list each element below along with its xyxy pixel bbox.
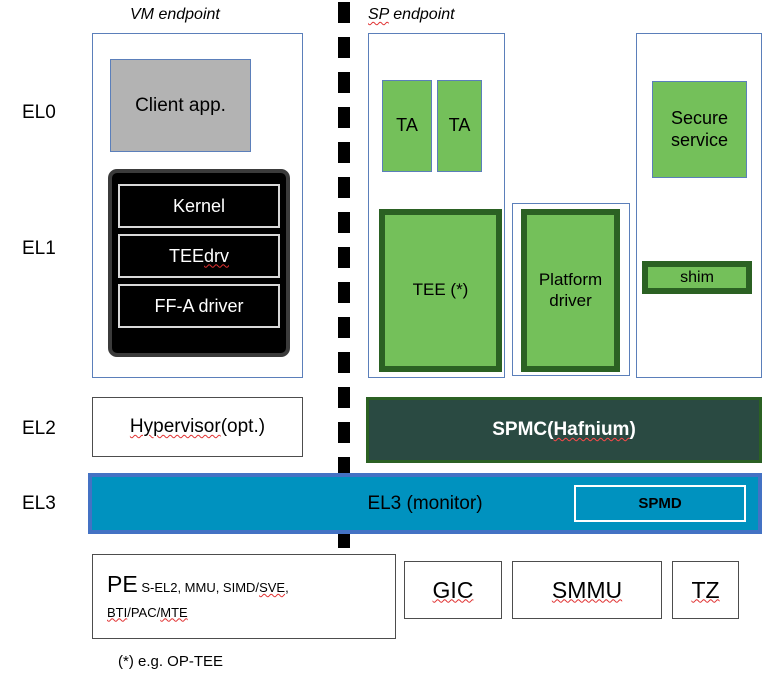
pe-detail-bti: BTI (107, 605, 127, 620)
spmc-label-hafnium: Hafnium (553, 419, 629, 441)
ta-box-2[interactable]: TA (437, 80, 482, 172)
secure-service-label-line1: Secure (671, 108, 728, 129)
kernel-box[interactable]: Kernel (118, 184, 280, 228)
el-label-el0: EL0 (22, 102, 56, 124)
pe-detail-mte: MTE (160, 605, 187, 620)
smmu-label: SMMU (552, 577, 622, 604)
smmu-box[interactable]: SMMU (512, 561, 662, 619)
spmc-label-prefix: SPMC (492, 419, 547, 441)
tz-box[interactable]: TZ (672, 561, 739, 619)
ta-box-1[interactable]: TA (382, 80, 432, 172)
ffa-driver-box[interactable]: FF-A driver (118, 284, 280, 328)
spmd-box[interactable]: SPMD (574, 485, 746, 522)
el3-monitor-bar[interactable]: EL3 (monitor) SPMD (88, 473, 762, 534)
pe-detail-pac: /PAC/ (127, 605, 160, 620)
platform-driver-box[interactable]: Platform driver (521, 209, 620, 372)
platform-driver-label-line2: driver (539, 291, 602, 311)
spmc-bar[interactable]: SPMC (Hafnium) (366, 397, 762, 463)
hypervisor-label-suffix: (opt.) (221, 416, 265, 438)
hypervisor-box[interactable]: Hypervisor (opt.) (92, 397, 303, 457)
shim-box[interactable]: shim (642, 261, 752, 294)
el-label-el2: EL2 (22, 418, 56, 440)
spmc-label-suffix: ) (629, 419, 635, 441)
el-label-el3: EL3 (22, 493, 56, 515)
client-app-box[interactable]: Client app. (110, 59, 251, 152)
el-label-el1: EL1 (22, 238, 56, 260)
pe-label: PE (107, 571, 138, 597)
platform-driver-label-line1: Platform (539, 270, 602, 290)
kernel-stack-container: Kernel TEE drv FF-A driver (108, 169, 290, 357)
pe-detail-line1: S-EL2, MMU, SIMD/ (141, 580, 259, 595)
pe-box[interactable]: PE S-EL2, MMU, SIMD/SVE, BTI/PAC/MTE (92, 554, 396, 639)
sp-endpoint-title-prefix: SP (368, 6, 389, 23)
tee-box[interactable]: TEE (*) (379, 209, 502, 372)
tz-label: TZ (691, 577, 719, 604)
sp-endpoint-title-suffix: endpoint (389, 6, 455, 23)
platform-driver-label: Platform driver (539, 270, 602, 311)
pe-detail-line1-end: , (285, 580, 289, 595)
gic-box[interactable]: GIC (404, 561, 502, 619)
secure-service-box[interactable]: Secure service (652, 81, 747, 178)
tee-driver-box[interactable]: TEE drv (118, 234, 280, 278)
secure-service-label-line2: service (671, 130, 728, 151)
diagram-canvas: VM endpoint SP endpoint EL0 EL1 EL2 EL3 … (0, 0, 784, 686)
footnote: (*) e.g. OP-TEE (118, 653, 223, 670)
sp-endpoint-title: SP endpoint (368, 6, 455, 24)
pe-text: PE S-EL2, MMU, SIMD/SVE, BTI/PAC/MTE (107, 567, 387, 623)
gic-label: GIC (433, 577, 474, 604)
tee-driver-label-squiggle: drv (204, 246, 229, 267)
pe-detail-line1-squiggle: SVE (259, 580, 285, 595)
vm-endpoint-title: VM endpoint (130, 6, 220, 24)
tee-driver-label: TEE (169, 246, 204, 267)
hypervisor-label-prefix: Hypervisor (130, 416, 221, 438)
secure-service-label: Secure service (671, 108, 728, 150)
